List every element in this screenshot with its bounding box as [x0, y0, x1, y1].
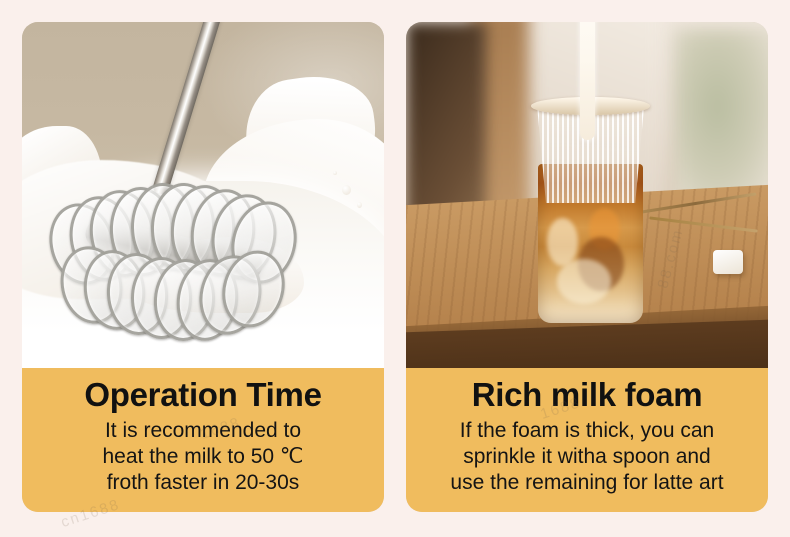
card-body: If the foam is thick, you can sprinkle i… — [406, 418, 768, 496]
feature-card-operation-time: Operation Time It is recommended to heat… — [22, 22, 384, 512]
card-body: It is recommended to heat the milk to 50… — [22, 418, 384, 496]
card-title: Rich milk foam — [406, 374, 768, 416]
sugar-cube — [713, 250, 743, 274]
milk-swirl — [557, 259, 611, 304]
card-body-line: heat the milk to 50 ℃ — [22, 444, 384, 470]
whisk-photo — [22, 22, 384, 368]
feature-card-rich-milk-foam: Rich milk foam If the foam is thick, you… — [406, 22, 768, 512]
caption-operation-time: Operation Time It is recommended to heat… — [22, 368, 384, 512]
product-feature-board: Operation Time It is recommended to heat… — [0, 0, 790, 537]
card-body-line: If the foam is thick, you can — [406, 418, 768, 444]
card-body-line: froth faster in 20-30s — [22, 470, 384, 496]
whisk-scene — [22, 22, 384, 368]
card-body-line: use the remaining for latte art — [406, 470, 768, 496]
latte-photo — [406, 22, 768, 368]
card-title: Operation Time — [22, 374, 384, 416]
whisk-coil-head — [44, 174, 334, 354]
milk-pour-stream — [580, 22, 595, 140]
card-body-line: sprinkle it witha spoon and — [406, 444, 768, 470]
latte-scene — [406, 22, 768, 368]
milk-swirl — [547, 218, 578, 266]
milk-droplet — [333, 171, 337, 175]
card-body-line: It is recommended to — [22, 418, 384, 444]
caption-rich-milk-foam: Rich milk foam If the foam is thick, you… — [406, 368, 768, 512]
